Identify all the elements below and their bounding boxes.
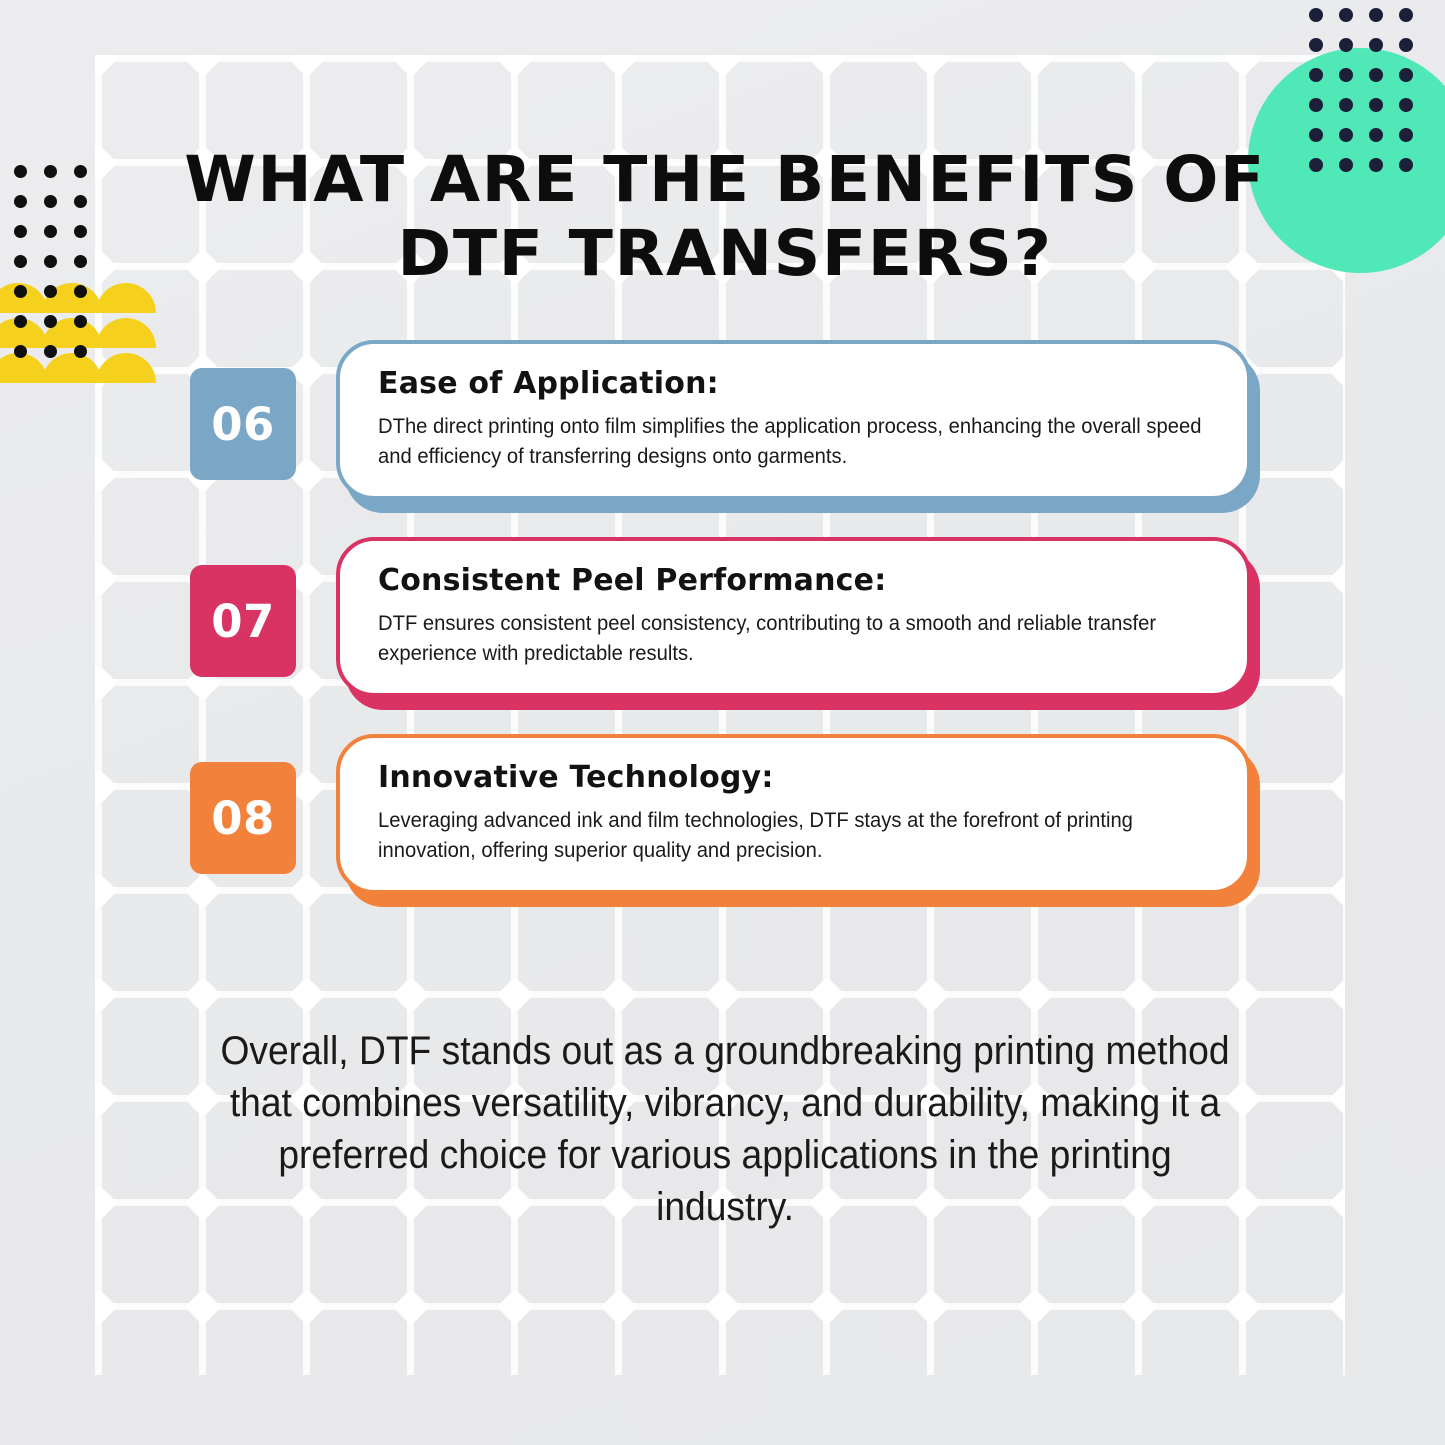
page-title: WHAT ARE THE BENEFITS OF DTF TRANSFERS? <box>164 143 1287 291</box>
closing-paragraph: Overall, DTF stands out as a groundbreak… <box>218 1025 1232 1233</box>
benefit-card-08: 08Innovative Technology:Leveraging advan… <box>190 734 1260 914</box>
card-panel: Consistent Peel Performance:DTF ensures … <box>336 537 1260 717</box>
card-number-badge: 08 <box>190 762 296 874</box>
card-heading: Ease of Application: <box>378 366 1213 402</box>
benefit-card-06: 06Ease of Application:DThe direct printi… <box>190 340 1260 520</box>
card-content: Consistent Peel Performance:DTF ensures … <box>336 537 1251 697</box>
card-number-badge: 07 <box>190 565 296 677</box>
black-dot-grid-decoration <box>14 165 126 360</box>
card-heading: Consistent Peel Performance: <box>378 563 1213 599</box>
card-panel: Ease of Application:DThe direct printing… <box>336 340 1260 520</box>
card-panel: Innovative Technology:Leveraging advance… <box>336 734 1260 914</box>
card-description: Leveraging advanced ink and film technol… <box>378 805 1210 865</box>
navy-dot-grid-decoration <box>1309 8 1439 178</box>
card-description: DThe direct printing onto film simplifie… <box>378 411 1210 471</box>
card-description: DTF ensures consistent peel consistency,… <box>378 608 1210 668</box>
card-number-badge: 06 <box>190 368 296 480</box>
card-content: Innovative Technology:Leveraging advance… <box>336 734 1251 894</box>
card-content: Ease of Application:DThe direct printing… <box>336 340 1251 500</box>
card-heading: Innovative Technology: <box>378 760 1213 796</box>
benefit-card-07: 07Consistent Peel Performance:DTF ensure… <box>190 537 1260 717</box>
infographic-canvas: WHAT ARE THE BENEFITS OF DTF TRANSFERS? … <box>0 0 1445 1445</box>
